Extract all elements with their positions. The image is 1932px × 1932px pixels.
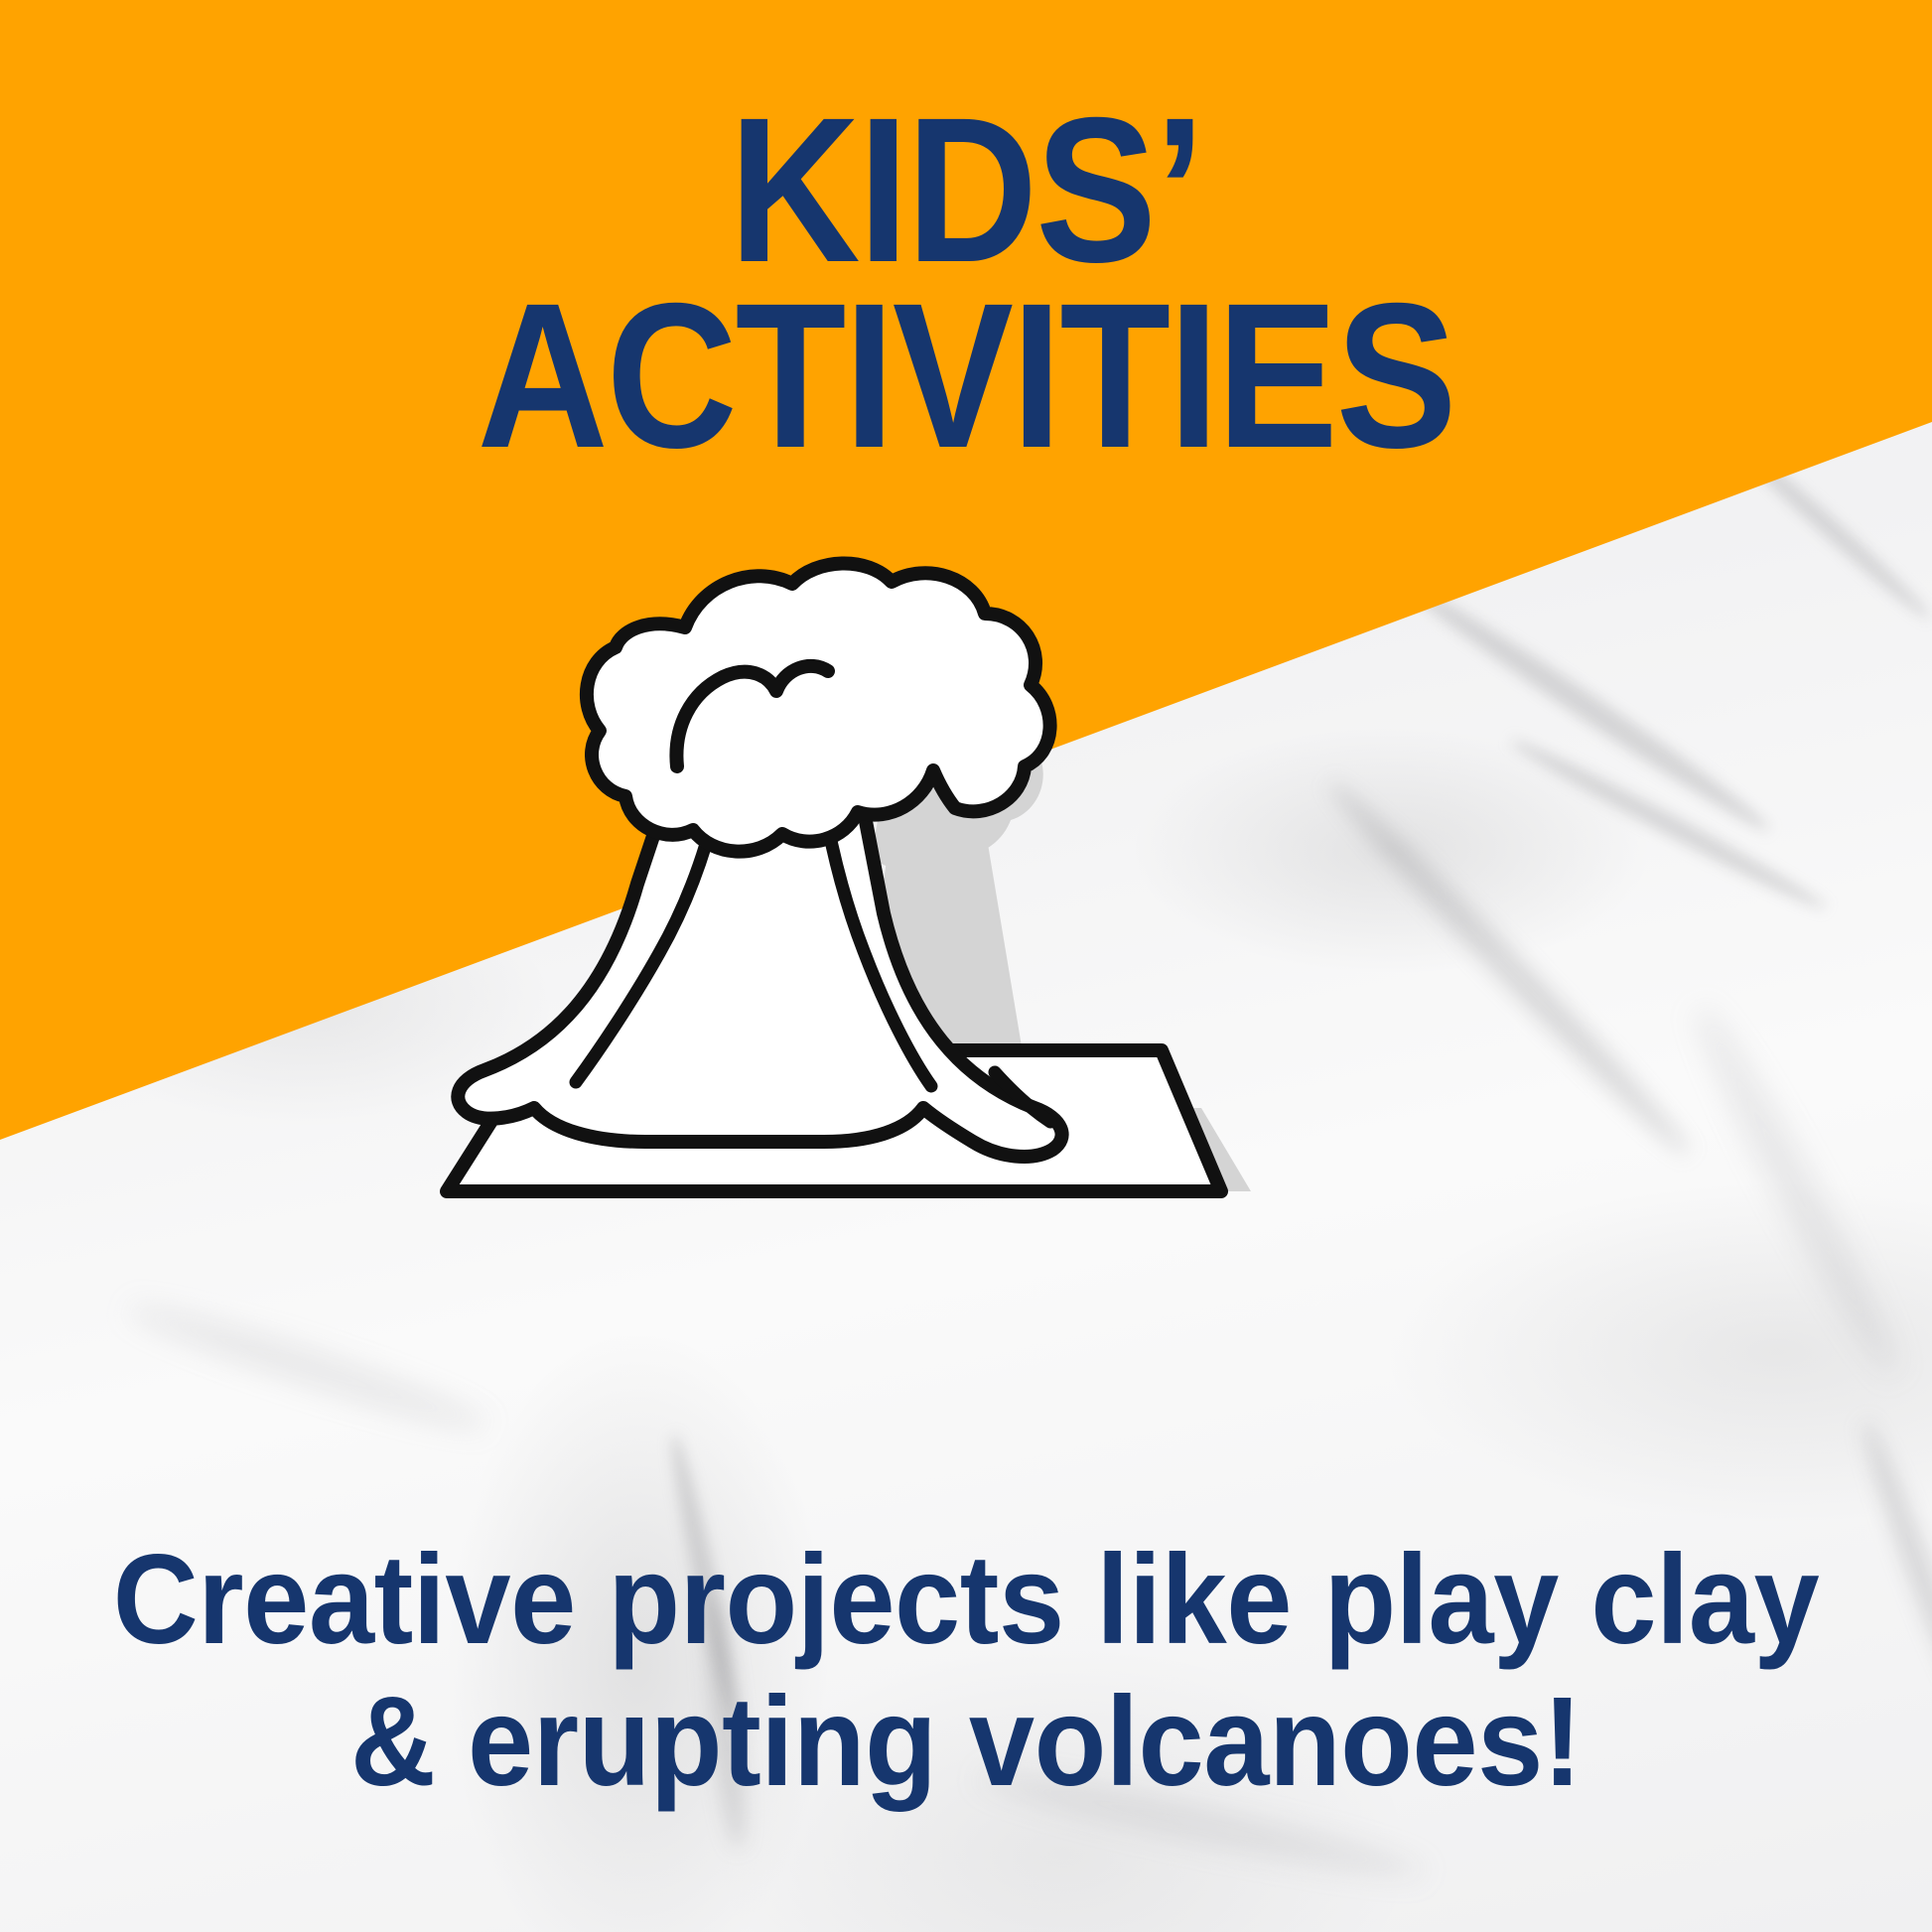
subtitle: Creative projects like play clay & erupt… xyxy=(0,1529,1932,1814)
subtitle-line-2: & erupting volcanoes! xyxy=(68,1671,1864,1813)
erupting-volcano-icon xyxy=(328,556,1261,1251)
smoke-plume xyxy=(587,563,1050,851)
poster-canvas: KIDS’ ACTIVITIES xyxy=(0,0,1932,1932)
volcano-illustration xyxy=(328,556,1261,1251)
subtitle-line-1: Creative projects like play clay xyxy=(68,1529,1864,1671)
